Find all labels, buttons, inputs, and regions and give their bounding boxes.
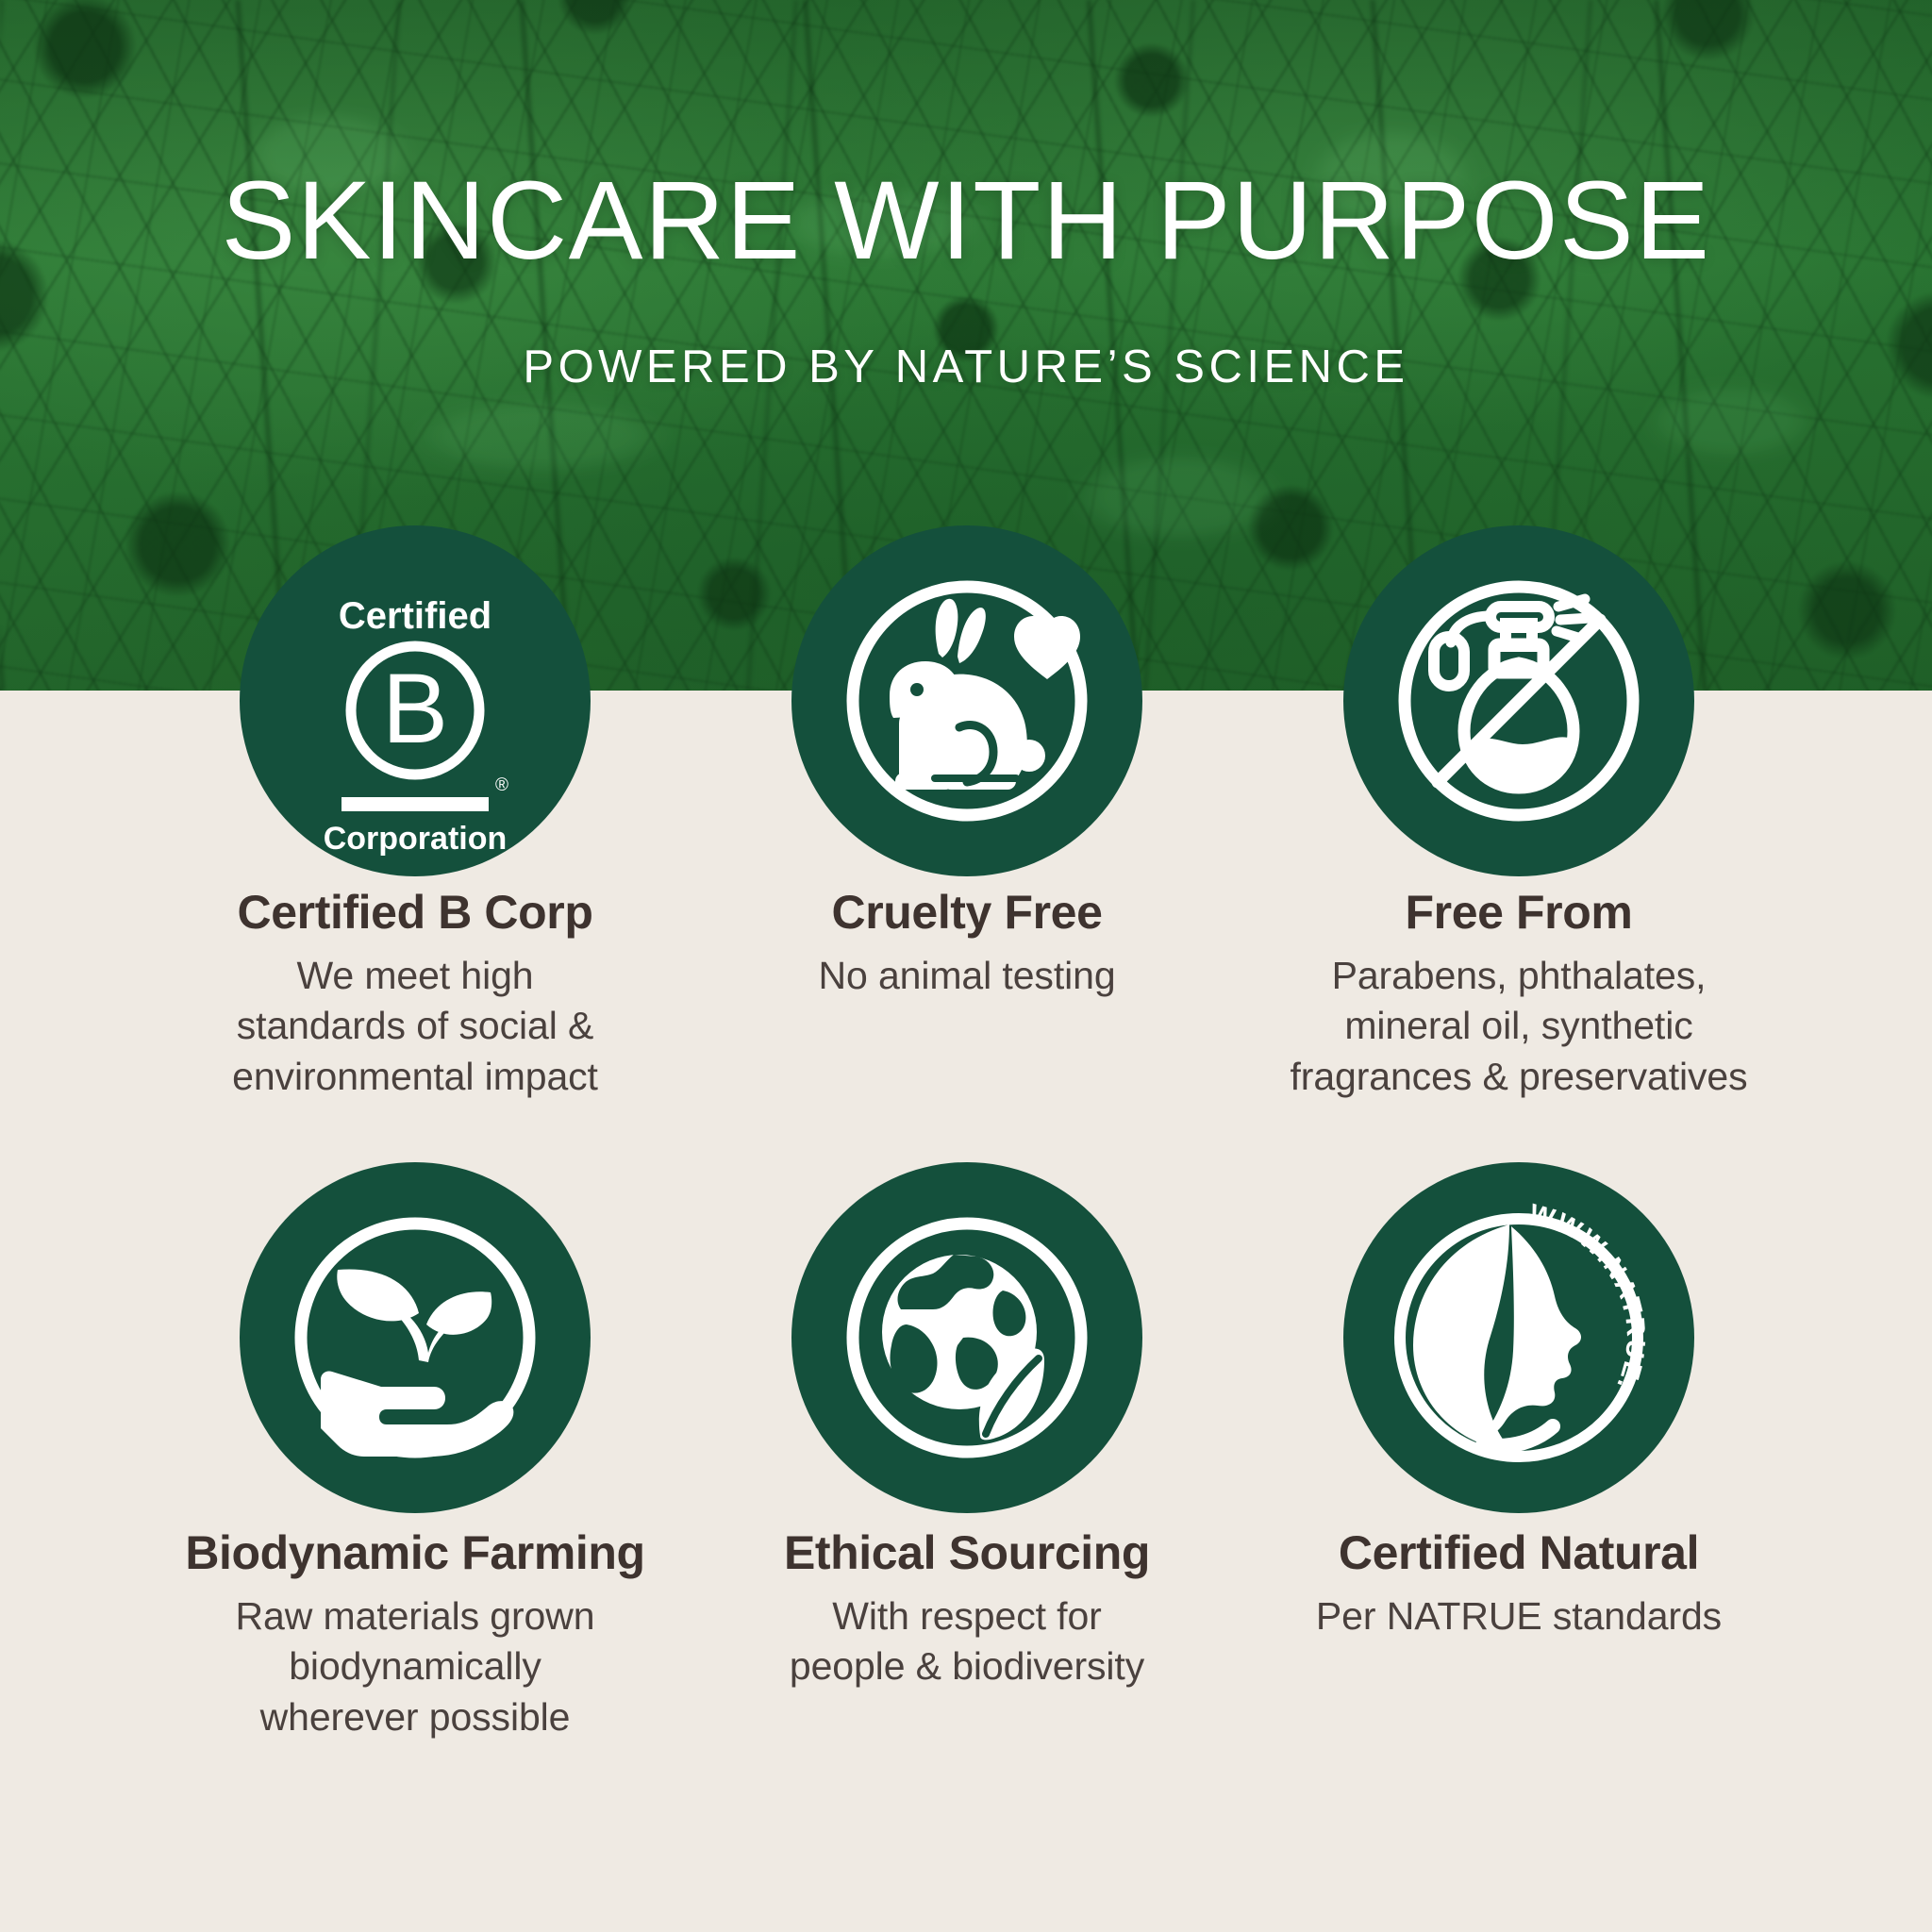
badge-wrap [113, 1160, 717, 1515]
badge-caption: Cruelty Free No animal testing [665, 888, 1269, 1001]
badge-circle: WWW.NATRUE.ORG [1343, 1162, 1694, 1513]
badge-wrap [665, 524, 1269, 878]
badge-wrap [665, 1160, 1269, 1515]
sprout-glyph [337, 1269, 491, 1362]
badge-wrap: WWW.NATRUE.ORG [1217, 1160, 1821, 1515]
infographic-page: SKINCARE WITH PURPOSE POWERED BY NATURE’… [0, 0, 1932, 1932]
badge-cell-biodynamic-farming: Biodynamic Farming Raw materials grown b… [113, 1160, 717, 1742]
badge-circle [791, 1162, 1142, 1513]
badge-cell-cruelty-free: Cruelty Free No animal testing [665, 524, 1269, 1001]
b-corp-divider-bar [341, 797, 489, 811]
badge-circle: Certified B ® Corporation [240, 525, 591, 876]
natrue-certified-natural-icon: WWW.NATRUE.ORG [1343, 1162, 1694, 1513]
badge-description: Parabens, phthalates, mineral oil, synth… [1217, 951, 1821, 1102]
badge-title: Cruelty Free [665, 888, 1269, 938]
badge-grid: Certified B ® Corporation Certified B Co… [0, 0, 1932, 1932]
badge-caption: Ethical Sourcing With respect for people… [665, 1528, 1269, 1692]
badge-description: Raw materials grown biodynamically where… [113, 1591, 717, 1742]
badge-title: Certified B Corp [113, 888, 717, 938]
badge-cell-free-from: Free From Parabens, phthalates, mineral … [1217, 524, 1821, 1102]
badge-circle [240, 1162, 591, 1513]
hand-glyph [321, 1371, 513, 1457]
badge-circle [1343, 525, 1694, 876]
b-corp-registered-mark: ® [495, 775, 508, 795]
b-corp-corporation-text: Corporation [324, 821, 508, 857]
b-corp-letter: B [382, 654, 448, 764]
badge-title: Ethical Sourcing [665, 1528, 1269, 1578]
badge-title: Free From [1217, 888, 1821, 938]
badge-wrap: Certified B ® Corporation [113, 524, 717, 878]
badge-caption: Free From Parabens, phthalates, mineral … [1217, 888, 1821, 1102]
hand-holding-sprout-icon [240, 1162, 591, 1513]
badge-description: We meet high standards of social & envir… [113, 951, 717, 1102]
badge-description: With respect for people & biodiversity [665, 1591, 1269, 1692]
rabbit-heart-cruelty-free-icon [791, 525, 1142, 876]
badge-caption: Biodynamic Farming Raw materials grown b… [113, 1528, 717, 1742]
badge-title: Certified Natural [1217, 1528, 1821, 1578]
badge-cell-ethical-sourcing: Ethical Sourcing With respect for people… [665, 1160, 1269, 1692]
badge-caption: Certified B Corp We meet high standards … [113, 888, 717, 1102]
badge-description: No animal testing [665, 951, 1269, 1001]
badge-circle [791, 525, 1142, 876]
badge-cell-certified-natural: WWW.NATRUE.ORG Certified Natural Per NAT… [1217, 1160, 1821, 1641]
badge-caption: Certified Natural Per NATRUE standards [1217, 1528, 1821, 1641]
b-corp-certification-icon: Certified B ® Corporation [240, 525, 591, 876]
globe-with-leaf-icon [791, 1162, 1142, 1513]
b-corp-certified-text: Certified [339, 595, 491, 637]
no-fragrance-bottle-icon [1343, 525, 1694, 876]
badge-description: Per NATRUE standards [1217, 1591, 1821, 1641]
rabbit-eye [910, 683, 924, 696]
badge-cell-certified-b-corp: Certified B ® Corporation Certified B Co… [113, 524, 717, 1102]
badge-wrap [1217, 524, 1821, 878]
badge-title: Biodynamic Farming [113, 1528, 717, 1578]
